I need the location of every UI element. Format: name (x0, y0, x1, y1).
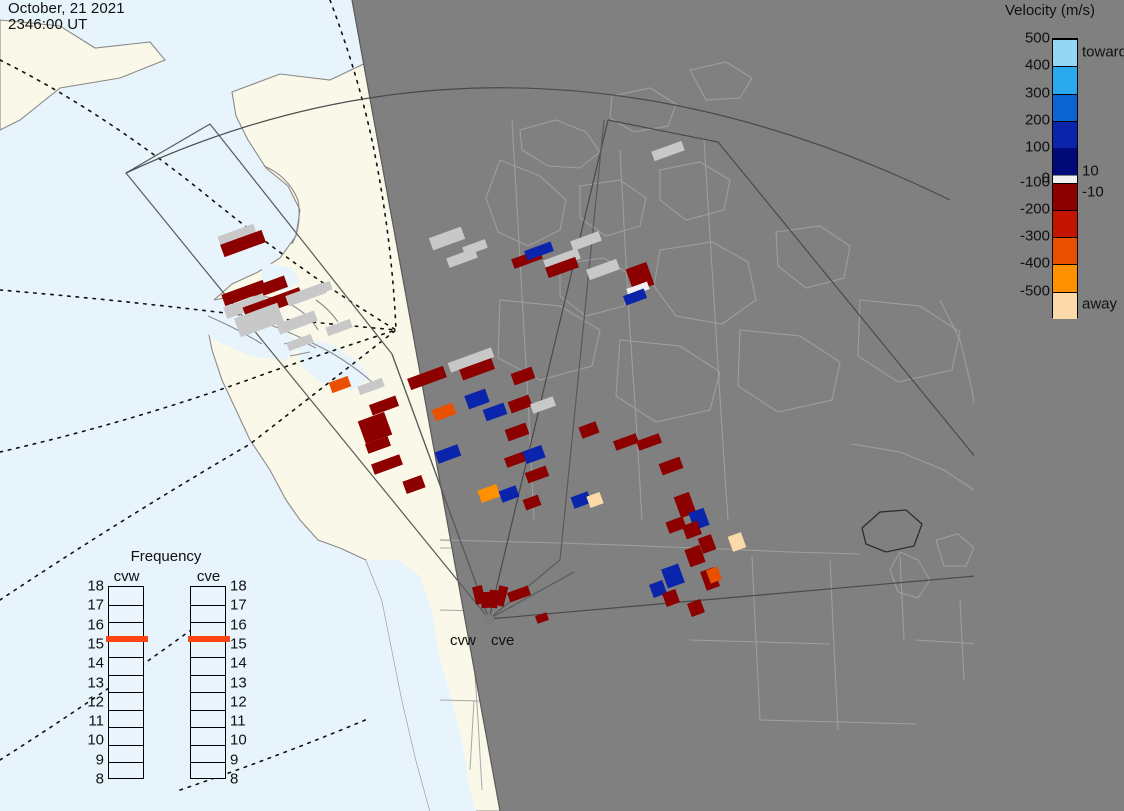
radar-cell (371, 454, 403, 475)
colorbar-tick-label: 500 (1004, 30, 1050, 47)
frequency-scale-label-right: 16 (230, 616, 247, 633)
frequency-scale-label-right: 18 (230, 578, 247, 595)
radar-cell (435, 444, 462, 463)
colorbar-segment (1053, 176, 1077, 183)
frequency-scale-label-right: 12 (230, 693, 247, 710)
colorbar-tick-label: 200 (1004, 111, 1050, 128)
colorbar-tick-label: 300 (1004, 84, 1050, 101)
frequency-marker-cvw (106, 636, 148, 642)
colorbar-segment (1053, 94, 1077, 121)
radar-label-cvw: cvw (450, 632, 476, 649)
frequency-scale-label-right: 17 (230, 597, 247, 614)
colorbar-gradient[interactable] (1052, 38, 1078, 318)
radar-map-screenshot: cvw cve October, 21 2021 2346:00 UT Freq… (0, 0, 1124, 811)
radar-cell (357, 378, 385, 395)
colorbar-segment (1053, 39, 1077, 66)
radar-cell (530, 396, 556, 414)
radar-cell (687, 599, 705, 617)
colorbar-tick-label: -300 (1004, 228, 1050, 245)
radar-cell (429, 227, 465, 251)
radar-cell (329, 376, 352, 393)
radar-cell (325, 319, 353, 336)
frequency-legend-title: Frequency (86, 548, 246, 565)
colorbar-negative-threshold-label: -10 (1082, 183, 1104, 200)
frequency-scale-label-left: 17 (86, 597, 104, 614)
radar-cell (432, 403, 457, 422)
colorbar-tick-label: 400 (1004, 57, 1050, 74)
radar-cell (659, 457, 684, 476)
radar-cell (523, 495, 542, 511)
radar-cell (613, 433, 639, 451)
frequency-scale-label-left: 16 (86, 616, 104, 633)
colorbar-tick-label: 100 (1004, 139, 1050, 156)
frequency-scale-label-right: 8 (230, 771, 238, 788)
colorbar-segment (1053, 210, 1077, 237)
frequency-scale-label-left: 13 (86, 674, 104, 691)
frequency-scale-label-left: 18 (86, 578, 104, 595)
radar-cell (508, 395, 533, 414)
frequency-scale-label-left: 9 (86, 751, 104, 768)
frequency-scale-label-right: 9 (230, 751, 238, 768)
colorbar-positive-threshold-label: 10 (1082, 162, 1099, 179)
frequency-bar-cve[interactable] (190, 586, 226, 779)
colorbar-toward-label: toward (1082, 43, 1124, 60)
frequency-scale-label-right: 15 (230, 635, 247, 652)
velocity-colorbar-panel: Velocity (m/s) 5004003002001000-100-200-… (974, 0, 1124, 811)
radar-cell (407, 366, 447, 390)
radar-cell (286, 334, 314, 351)
colorbar-segment (1053, 292, 1077, 319)
radar-cell (477, 484, 500, 503)
frequency-scale-label-right: 14 (230, 655, 247, 672)
radar-cell (495, 585, 509, 607)
radar-cell (483, 403, 508, 422)
frequency-scale-label-right: 11 (230, 713, 246, 730)
radar-site-dot (483, 614, 494, 625)
radar-cell (507, 586, 531, 603)
colorbar-segment (1053, 183, 1077, 210)
colorbar-title: Velocity (m/s) (982, 2, 1118, 19)
colorbar-tick-label: -200 (1004, 200, 1050, 217)
colorbar-segment (1053, 148, 1077, 175)
radar-cell (662, 589, 680, 607)
colorbar-tick-label: -500 (1004, 282, 1050, 299)
radar-cell (402, 475, 425, 494)
radar-cell (586, 259, 620, 280)
radar-cell (505, 423, 530, 442)
colorbar-segment (1053, 66, 1077, 93)
radar-cell (464, 389, 489, 410)
frequency-scale-label-left: 11 (86, 713, 104, 730)
colorbar-segment (1053, 121, 1077, 148)
radar-cell (586, 492, 603, 508)
frequency-scale-label-right: 10 (230, 732, 247, 749)
frequency-scale-label-left: 14 (86, 655, 104, 672)
radar-cell (661, 564, 685, 589)
radar-cell (535, 612, 549, 624)
timestamp-label: October, 21 2021 2346:00 UT (8, 1, 125, 33)
colorbar-away-label: away (1082, 296, 1117, 313)
radar-label-cve: cve (491, 632, 514, 649)
colorbar-segment (1053, 237, 1077, 264)
colorbar-tick-label: -100 (1004, 173, 1050, 190)
colorbar-tick-label: -400 (1004, 255, 1050, 272)
frequency-scale-label-left: 12 (86, 693, 104, 710)
radar-cell (578, 421, 599, 438)
frequency-scale-label-right: 13 (230, 674, 247, 691)
radar-cell (728, 532, 747, 552)
radar-cell (636, 433, 662, 451)
radar-cell (511, 367, 536, 386)
frequency-scale-label-left: 10 (86, 732, 104, 749)
radar-cell (651, 141, 684, 161)
radar-cell (525, 466, 549, 484)
frequency-legend: Frequency cvw cve 1818171716 (86, 548, 246, 793)
frequency-scale-label-left: 8 (86, 771, 104, 788)
radar-cell (522, 445, 545, 464)
frequency-marker-cve (188, 636, 230, 642)
radar-cell (498, 485, 519, 502)
radar-cell (276, 310, 317, 334)
frequency-scale-label-left: 15 (86, 635, 104, 652)
radar-cell (570, 231, 602, 251)
colorbar-segment (1053, 264, 1077, 291)
frequency-bar-cvw[interactable] (108, 586, 144, 779)
